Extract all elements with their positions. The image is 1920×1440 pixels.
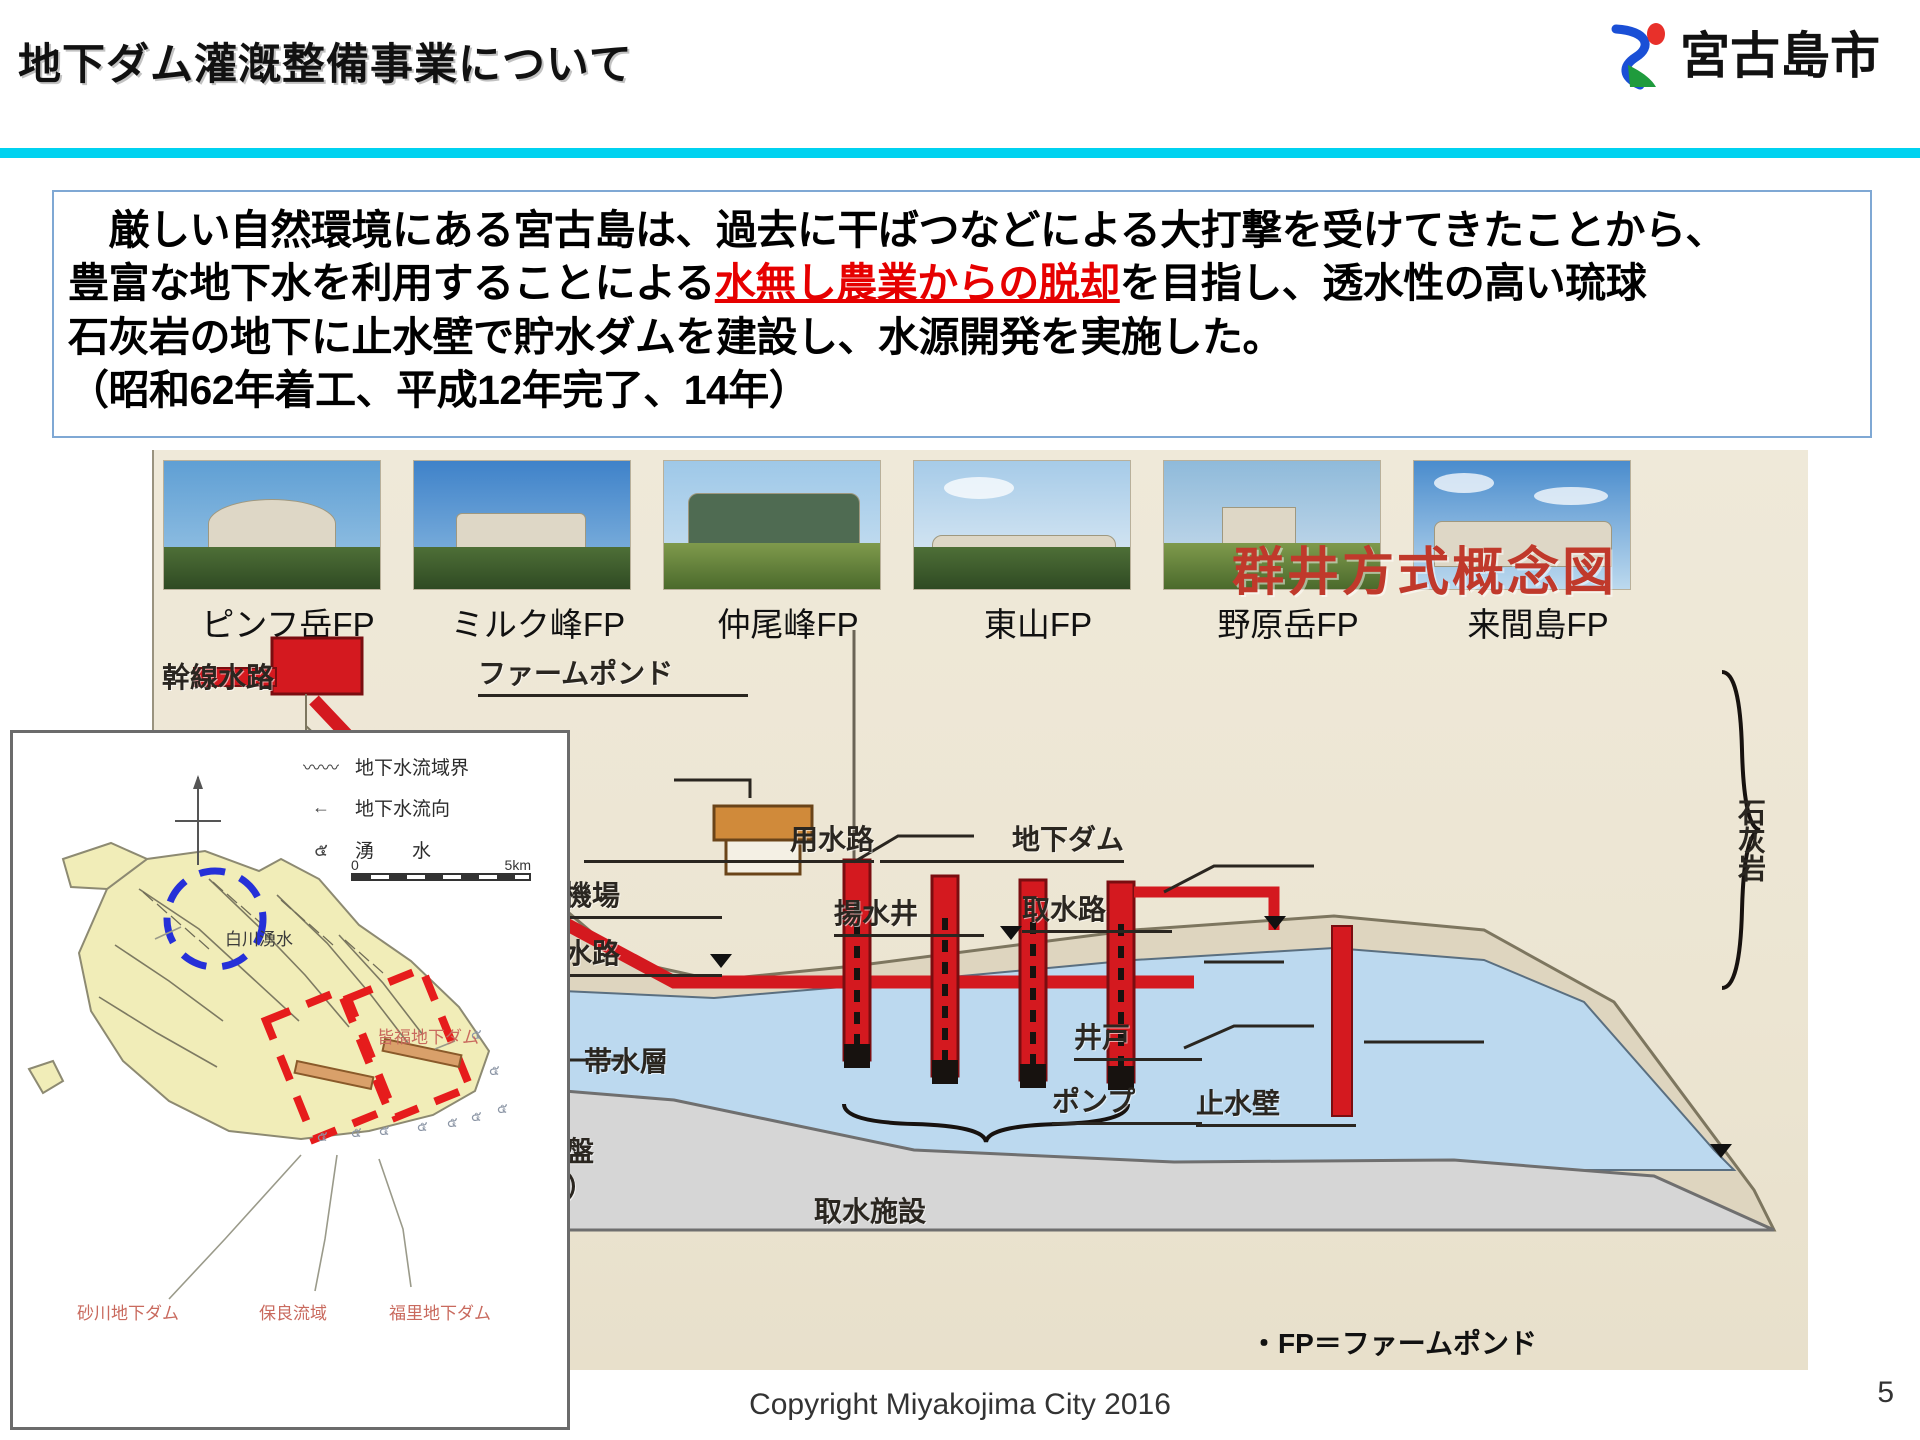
label-shusuiro: 取水路 bbox=[1022, 888, 1172, 933]
miyakojima-city-logo-icon bbox=[1606, 21, 1680, 91]
summary-textbox: 厳しい自然環境にある宮古島は、過去に干ばつなどによる大打撃を受けてきたことから、… bbox=[52, 190, 1872, 438]
map-label-shirakawa-spring: 白川湧水 bbox=[225, 925, 293, 950]
svg-text:๕: ๕ bbox=[497, 1101, 508, 1117]
legend-item-flow: ← 地下水流向 bbox=[297, 794, 547, 821]
watershed-boundary-icon: 〰〰 bbox=[297, 754, 345, 780]
city-logo-text: 宮古島市 bbox=[1680, 21, 1880, 91]
inset-map-body: ๕๕๕ ๕๕๕ ๕๕๕ 〰〰 地下水流域界 bbox=[19, 739, 561, 1421]
label-shusui-shisetsu: 取水施設 bbox=[814, 1190, 926, 1230]
map-label-fukuzato-dam: 福里地下ダム bbox=[389, 1299, 491, 1324]
farm-pond-photo-3 bbox=[663, 460, 881, 590]
summary-line-1: 厳しい自然環境にある宮古島は、過去に干ばつなどによる大打撃を受けてきたことから、 bbox=[54, 192, 1870, 257]
label-shisuiheki: 止水壁 bbox=[1196, 1082, 1356, 1127]
svg-text:๕: ๕ bbox=[471, 1109, 482, 1125]
inset-map: ๕๕๕ ๕๕๕ ๕๕๕ 〰〰 地下水流域界 bbox=[10, 730, 570, 1430]
label-taisuiso: 帯水層 bbox=[584, 1040, 668, 1080]
svg-text:๕: ๕ bbox=[379, 1123, 390, 1139]
map-scalebar: 0 5km bbox=[351, 857, 531, 881]
svg-text:๕: ๕ bbox=[317, 1129, 328, 1145]
map-label-sunagawa-dam: 砂川地下ダム bbox=[77, 1299, 179, 1324]
scale-right: 5km bbox=[505, 857, 531, 873]
highlighted-phrase: 水無し農業からの脱却 bbox=[715, 260, 1120, 306]
scalebar-bar bbox=[351, 873, 531, 881]
city-logo: 宮古島市 bbox=[1606, 20, 1880, 92]
flow-arrow-icon: ← bbox=[297, 797, 345, 818]
page-number: 5 bbox=[1877, 1376, 1894, 1410]
summary-line-3: 石灰岩の地下に止水壁で貯水ダムを建設し、水源開発を実施した。 bbox=[54, 311, 1870, 364]
spring-symbol-icon: ๕ bbox=[297, 835, 345, 864]
svg-text:๕: ๕ bbox=[489, 1063, 500, 1079]
svg-text:๕: ๕ bbox=[351, 1125, 362, 1141]
scale-left: 0 bbox=[351, 857, 359, 873]
legend-item-watershed: 〰〰 地下水流域界 bbox=[297, 753, 547, 780]
legend-label-flow: 地下水流向 bbox=[355, 794, 450, 821]
farm-pond-photo-2 bbox=[413, 460, 631, 590]
svg-text:๕: ๕ bbox=[417, 1119, 428, 1135]
map-label-minafuku-dam: 皆福地下ダム bbox=[377, 1023, 479, 1048]
label-sekkaigan: 石灰岩 bbox=[1730, 798, 1770, 882]
label-ido: 井戸 bbox=[1074, 1016, 1202, 1061]
farm-pond-photo-4 bbox=[913, 460, 1131, 590]
label-farm-pond: ファームポンド bbox=[478, 652, 748, 697]
label-chika-dam: 地下ダム bbox=[880, 818, 1124, 863]
map-label-hora-basin: 保良流域 bbox=[259, 1299, 327, 1324]
svg-text:๕: ๕ bbox=[447, 1115, 458, 1131]
diagram-footnote: ・FP＝ファームポンド bbox=[1250, 1322, 1537, 1362]
compass-icon bbox=[171, 773, 225, 869]
legend-label-watershed: 地下水流域界 bbox=[355, 753, 469, 780]
summary-line-4: （昭和62年着工、平成12年完了、14年） bbox=[54, 364, 1870, 417]
copyright-text: Copyright Miyakojima City 2016 bbox=[0, 1388, 1920, 1422]
label-yosuisei: 揚水井 bbox=[834, 892, 984, 937]
summary-line-2: 豊富な地下水を利用することによる水無し農業からの脱却を目指し、透水性の高い琉球 bbox=[54, 257, 1870, 310]
diagram-title: 群井方式概念図 bbox=[1232, 530, 1617, 605]
header-divider bbox=[0, 148, 1920, 158]
label-kansen-suiro: 幹線水路 bbox=[162, 656, 274, 696]
slide-page: 地下ダム灌漑整備事業について 宮古島市 厳しい自然環境にある宮古島は、過去に干ば… bbox=[0, 0, 1920, 1440]
page-title: 地下ダム灌漑整備事業について bbox=[18, 30, 633, 92]
label-pump: ポンプ bbox=[1052, 1080, 1202, 1125]
label-yosuiro: 用水路 bbox=[584, 818, 874, 863]
farm-pond-photo-1 bbox=[163, 460, 381, 590]
